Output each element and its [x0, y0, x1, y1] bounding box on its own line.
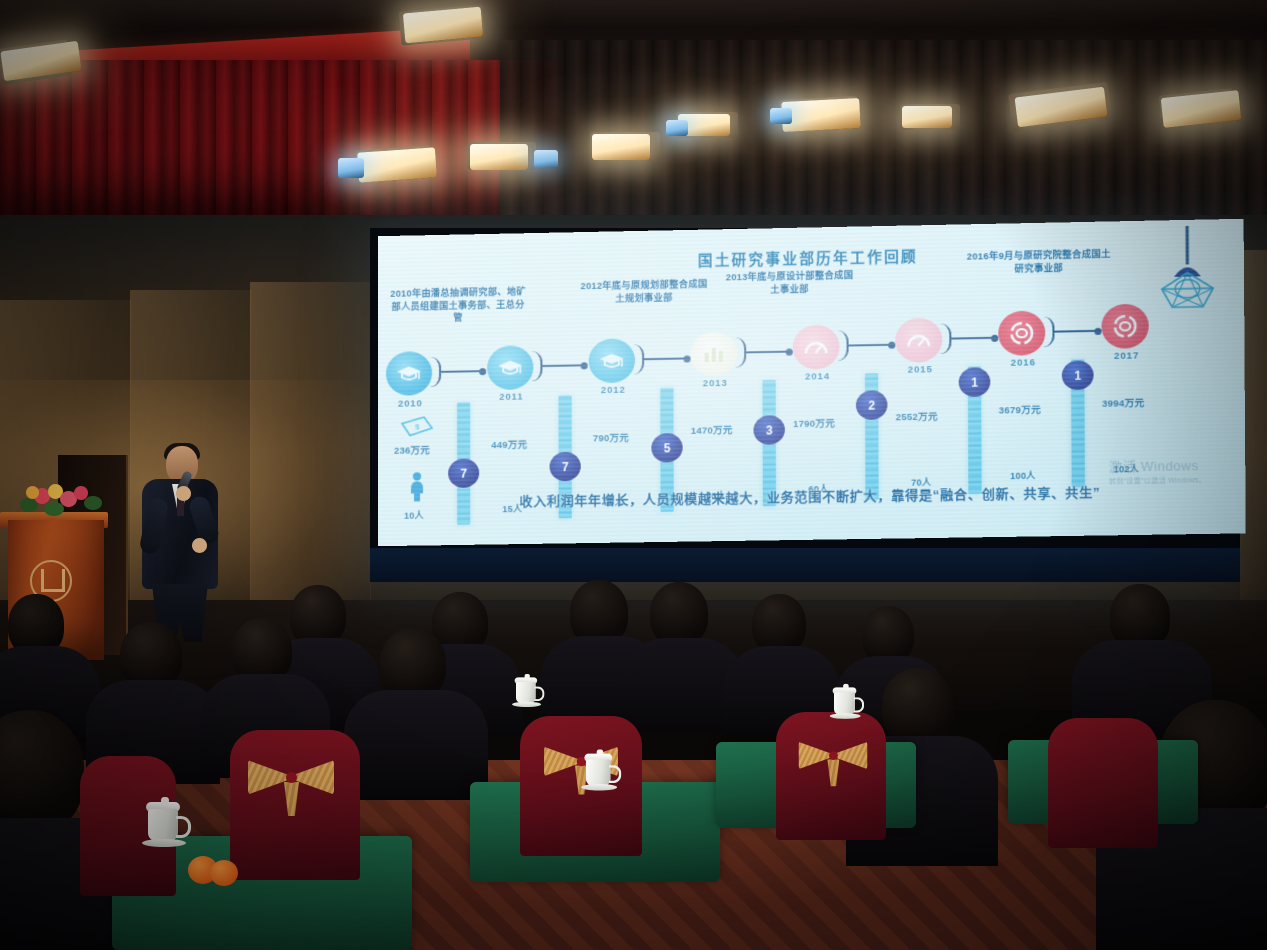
revenue-label-2015: 2552万元 [896, 408, 938, 423]
timeline-node-2010 [386, 351, 432, 396]
lighting-truss [0, 0, 1267, 28]
stage-light-blue-2 [534, 150, 558, 168]
year-label-2016: 2016 [1011, 357, 1036, 369]
graduation-cap-icon [396, 363, 422, 383]
revenue-label-2016: 3679万元 [999, 402, 1041, 417]
year-label-2012: 2012 [601, 385, 626, 396]
timeline-brace-2 [531, 351, 542, 381]
year-label-2011: 2011 [499, 391, 523, 402]
revenue-label-2010: 236万元 [394, 442, 430, 457]
stage-light-4 [470, 144, 528, 170]
chair-cover [1048, 718, 1158, 848]
cup-saucer [581, 784, 617, 791]
timeline-node-2014 [793, 325, 840, 370]
stage-light-5 [592, 134, 650, 160]
note-2012: 2012年底与原规划部整合成国土规划事业部 [579, 278, 710, 306]
audience-head [752, 594, 806, 654]
stage-light-8 [902, 106, 952, 128]
growth-badge-6: 1 [959, 367, 991, 397]
cup-knob [597, 750, 604, 756]
year-label-2014: 2014 [805, 371, 830, 383]
timeline-connector-1 [440, 370, 482, 373]
growth-badge-1: 7 [448, 458, 479, 488]
pendant-lamp-icon [1155, 225, 1219, 319]
timeline-brace-7 [1043, 316, 1054, 347]
timeline-brace-1 [430, 357, 441, 387]
timeline-brace-4 [735, 337, 746, 367]
presentation-slide: 国土研究事业部历年工作回顾 2010年由潘总抽调研究部、地矿部人员组建国土事务部… [378, 219, 1246, 546]
growth-badge-4: 3 [753, 415, 785, 445]
growth-badge-2: 7 [550, 452, 581, 482]
revenue-label-2013: 1470万元 [691, 422, 733, 437]
chair-bow-ribbon [248, 758, 334, 798]
watermark-line-1: 激活 Windows [1109, 455, 1206, 476]
cup-knob [843, 684, 849, 689]
cup-saucer [512, 702, 541, 707]
cup-body [148, 809, 178, 841]
stage-light-blue-1 [338, 158, 364, 178]
graduation-cap-icon [497, 357, 523, 378]
timeline-node-2015 [895, 318, 942, 363]
stage-light-blue-4 [770, 108, 792, 124]
timeline-connector-2 [541, 364, 583, 367]
timeline-node-2017 [1101, 304, 1148, 349]
svg-text:$: $ [415, 422, 420, 431]
stage-light-7 [781, 98, 860, 132]
growth-badge-5: 2 [856, 390, 888, 420]
revenue-label-2014: 1790万元 [793, 415, 835, 430]
flower-arrangement [16, 482, 104, 526]
note-2013: 2013年底与原设计部整合成国土事业部 [725, 269, 855, 297]
cup-saucer [830, 713, 861, 719]
timeline-node-2011 [487, 345, 533, 390]
revenue-label-2017: 3994万元 [1102, 395, 1144, 410]
cup-knob [161, 797, 169, 804]
growth-badge-3: 5 [651, 433, 682, 463]
year-label-2017: 2017 [1114, 350, 1139, 362]
gauge-icon [803, 338, 829, 357]
revenue-label-2011: 449万元 [491, 437, 527, 452]
stage-curtain-red [0, 60, 560, 220]
stage-light-3 [357, 147, 437, 182]
year-label-2013: 2013 [703, 378, 728, 390]
orange-fruit [210, 860, 238, 886]
presenter-hand-free [192, 538, 207, 553]
cup-body [516, 682, 536, 703]
note-2010: 2010年由潘总抽调研究部、地矿部人员组建国土事务部、王总分管 [388, 285, 528, 325]
timeline-brace-5 [837, 330, 848, 360]
cup-saucer [142, 839, 186, 847]
year-label-2010: 2010 [398, 398, 423, 409]
gauge-icon [905, 331, 932, 350]
timeline-connector-5 [848, 344, 892, 347]
cup-body [834, 692, 855, 714]
timeline-connector-3 [643, 357, 686, 360]
banknote-icon: $ [400, 415, 434, 438]
cup-knob [525, 674, 530, 679]
graduation-cap-icon [599, 351, 625, 372]
timeline-node-2016 [998, 311, 1045, 356]
target-icon [1008, 321, 1035, 346]
timeline-brace-3 [633, 344, 644, 374]
audience-shoulders [344, 690, 488, 800]
stage-light-blue-3 [666, 120, 688, 136]
chair-bow-ribbon [799, 740, 868, 772]
timeline-node-2013 [691, 331, 738, 376]
timeline-connector-4 [745, 351, 789, 354]
headcount-label-2016: 100人 [1010, 469, 1035, 483]
target-icon [1112, 314, 1139, 339]
timeline-connector-6 [950, 337, 994, 340]
timeline-node-2012 [589, 338, 635, 383]
bar-chart-icon [703, 345, 725, 363]
year-label-2015: 2015 [908, 364, 933, 376]
presenter-hand-mic [176, 486, 191, 501]
audience-head [650, 582, 708, 646]
timeline-connector-7 [1053, 330, 1097, 333]
cup-body [586, 759, 611, 785]
note-2016: 2016年9月与原研究院整合成国土研究事业部 [963, 248, 1114, 276]
timeline-brace-6 [940, 323, 951, 353]
conference-hall-photo: 国土研究事业部历年工作回顾 2010年由潘总抽调研究部、地矿部人员组建国土事务部… [0, 0, 1267, 950]
audience-head-foreground [882, 668, 954, 746]
revenue-label-2012: 790万元 [593, 430, 629, 445]
growth-badge-7: 1 [1062, 360, 1094, 390]
